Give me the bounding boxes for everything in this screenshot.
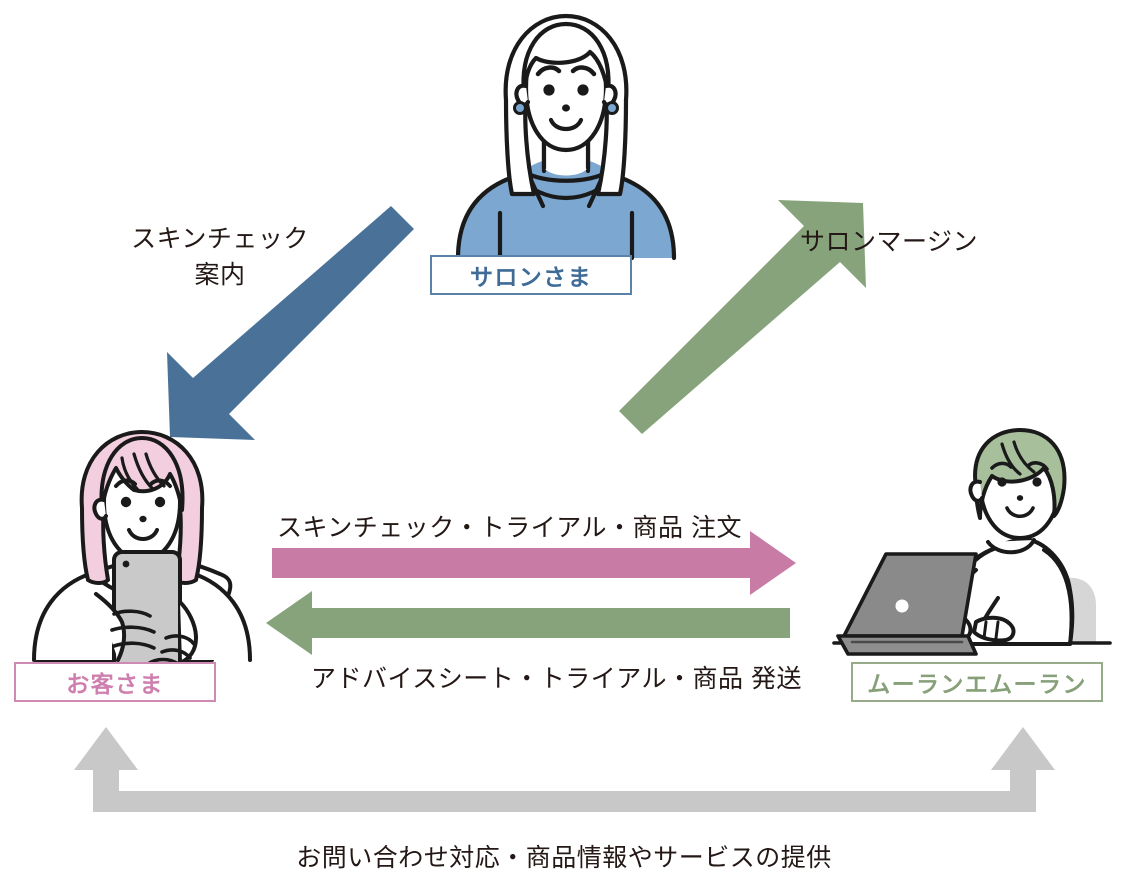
flow-label-order: スキンチェック・トライアル・商品 注文 <box>277 508 742 544</box>
node-label-salon: サロンさま <box>430 255 632 295</box>
illustration-company <box>0 0 1128 881</box>
flow-label-salon-margin: サロンマージン <box>800 222 978 258</box>
flow-label-skincheck-guide-line2: 案内 <box>120 258 320 294</box>
node-label-company: ムーランエムーラン <box>851 662 1103 702</box>
flow-label-skincheck-guide: スキンチェック 案内 <box>120 222 320 293</box>
diagram-canvas: スキンチェック 案内 サロンマージン スキンチェック・トライアル・商品 注文 ア… <box>0 0 1128 881</box>
flow-label-skincheck-guide-line1: スキンチェック <box>120 222 320 258</box>
flow-label-support: お問い合わせ対応・商品情報やサービスの提供 <box>0 838 1128 874</box>
node-label-customer: お客さま <box>14 662 216 702</box>
flow-label-shipping: アドバイスシート・トライアル・商品 発送 <box>311 659 802 695</box>
